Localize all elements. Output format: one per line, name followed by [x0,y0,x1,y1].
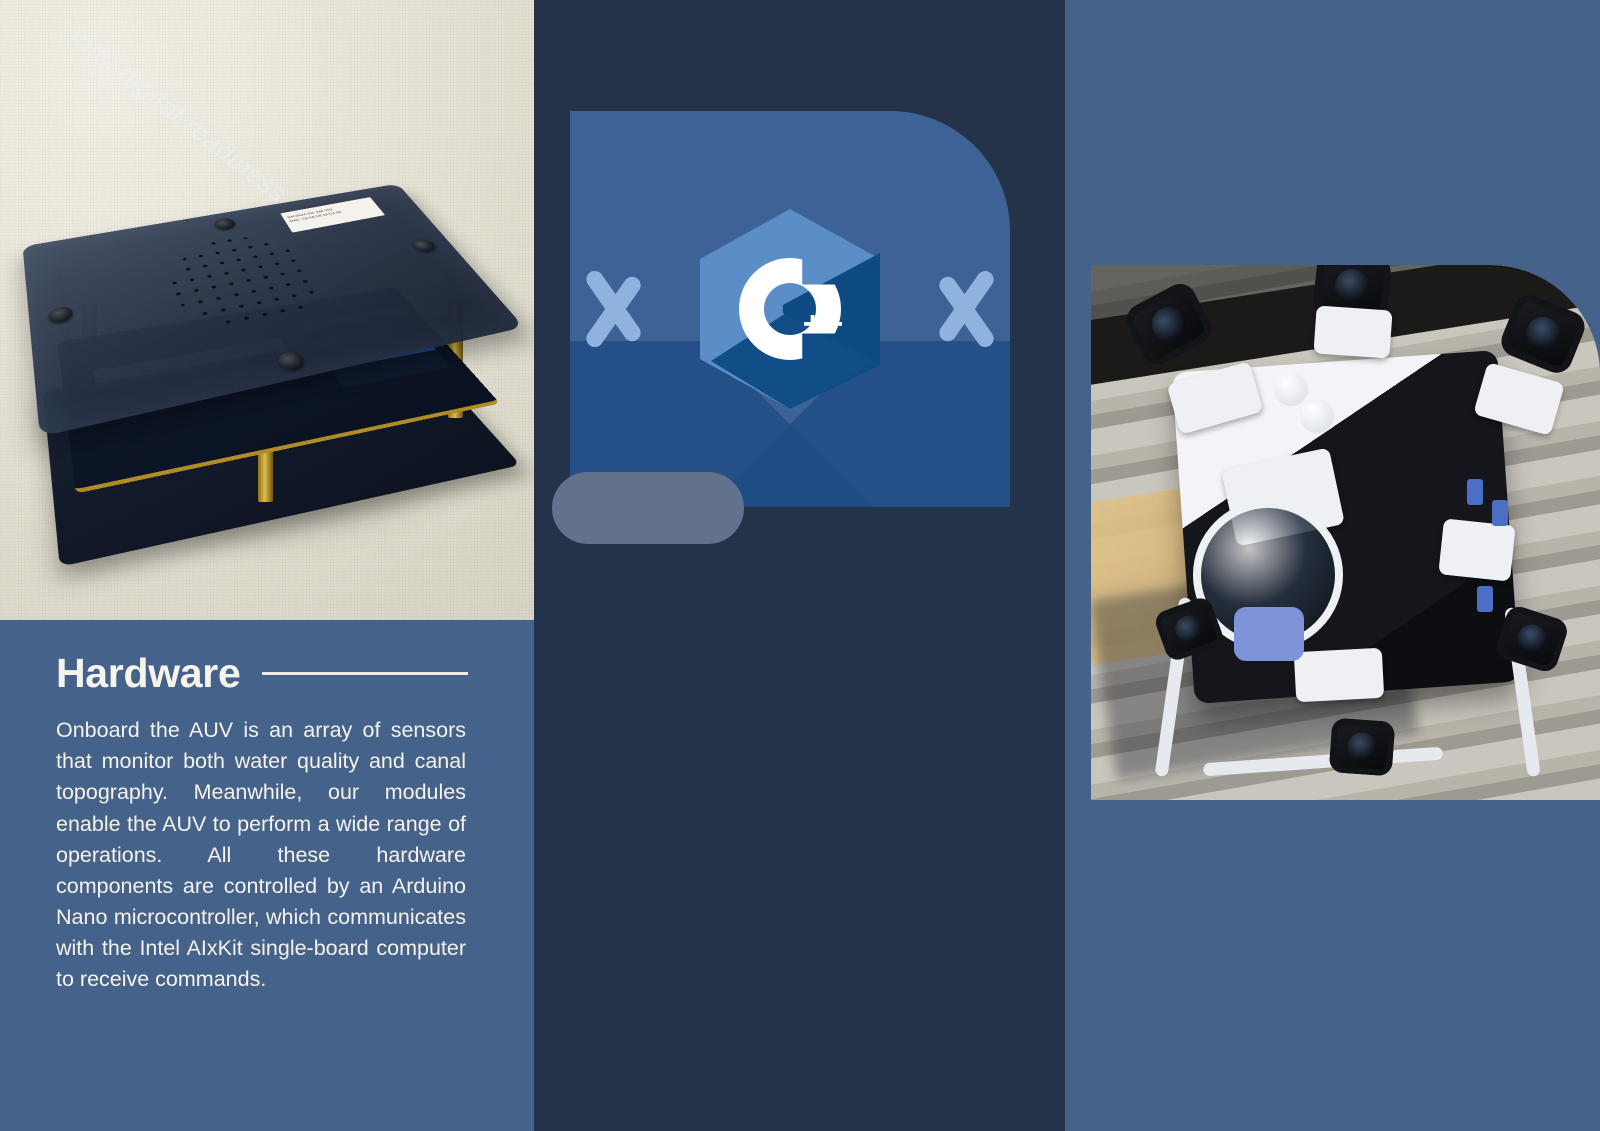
screw-icon [47,305,73,324]
hardware-photo: Ref:0A4A SN: 840-253 MAC: C8:8A:D8:1A:C4… [0,0,534,620]
blue-connector [1492,500,1508,526]
cpp-hexagon-icon: ++ [700,209,880,409]
impact-header-panel [1065,0,1600,265]
white-mount-block [1313,305,1392,358]
buoyancy-ball [1300,399,1334,433]
white-electronics-box [1439,518,1516,581]
heading-divider [262,672,468,675]
chevron-right-icon [912,224,990,394]
hardware-heading-row: Hardware [56,650,468,697]
impact-text-panel [1065,800,1600,1131]
hardware-body-text: Onboard the AUV is an array of sensors t… [56,715,466,996]
screw-icon [275,350,307,372]
cpp-plus-plus: ++ [803,305,845,344]
thruster-icon [1329,717,1396,776]
blue-connector [1477,586,1493,612]
brochure-page: Ref:0A4A SN: 840-253 MAC: C8:8A:D8:1A:C4… [0,0,1600,1131]
screw-icon [213,217,237,231]
chevron-left-icon [590,224,668,394]
speaker-grill [154,225,345,346]
buoyancy-ball [1274,372,1308,406]
screw-icon [410,238,438,253]
cpp-logo-card: ++ [570,111,1010,507]
blue-connector [1467,479,1483,505]
left-column: Ref:0A4A SN: 840-253 MAC: C8:8A:D8:1A:C4… [0,0,534,1131]
blue-foam-grabber [1234,607,1304,661]
auv-photo [1091,265,1600,800]
decorative-pill-shape [552,472,744,544]
serial-label: Ref:0A4A SN: 840-253 MAC: C8:8A:D8:1A:C4… [280,197,385,232]
page-title-hardware: Hardware [56,650,240,697]
middle-column: ++ Software + Decision Making Our AUVs I… [534,0,1065,1131]
right-column: Tangible Impact By combining these techn… [1065,0,1600,1131]
white-mount-block [1293,648,1383,703]
